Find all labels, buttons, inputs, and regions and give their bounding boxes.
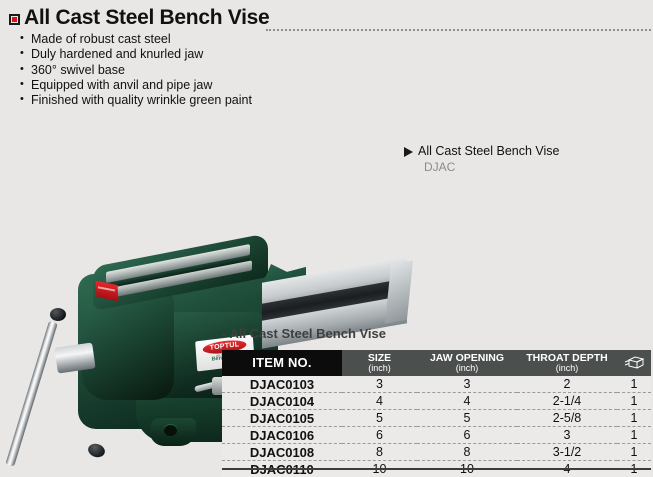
- table-row: DJAC01033321: [222, 376, 651, 393]
- cell-size: 5: [342, 410, 417, 427]
- column-header-throat-depth: THROAT DEPTH (inch): [517, 350, 617, 376]
- list-item: Finished with quality wrinkle green pain…: [20, 93, 350, 108]
- cell-throat-depth: 2-5/8: [517, 410, 617, 427]
- cell-item-no: DJAC0105: [222, 410, 342, 427]
- handle-collar: [54, 342, 95, 373]
- cell-jaw-opening: 8: [417, 444, 517, 461]
- cell-qty: 1: [617, 376, 651, 393]
- cell-size: 4: [342, 393, 417, 410]
- column-header-item-no: ITEM NO.: [222, 350, 342, 376]
- cell-qty: 1: [617, 427, 651, 444]
- table-heading: - All Cast Steel Bench Vise: [222, 326, 386, 341]
- cell-throat-depth: 2-1/4: [517, 393, 617, 410]
- handle-knob-bottom: [86, 442, 106, 459]
- cell-qty: 1: [617, 444, 651, 461]
- red-square-icon: [9, 14, 20, 25]
- specification-table: ITEM NO. SIZE (inch) JAW OPENING (inch) …: [222, 350, 651, 477]
- triangle-right-icon: [404, 147, 413, 157]
- table-row: DJAC0104442-1/41: [222, 393, 651, 410]
- table-row: DJAC0105552-5/81: [222, 410, 651, 427]
- vise-base-bolt-hole: [164, 425, 177, 436]
- cell-jaw-opening: 6: [417, 427, 517, 444]
- table-row: DJAC01066631: [222, 427, 651, 444]
- vise-handle-rod: [5, 321, 57, 467]
- bench-vise-photo: TOPTUL All Cast Steel Bench Vise: [18, 122, 408, 337]
- table-bottom-rule: [222, 468, 651, 470]
- cell-jaw-opening: 4: [417, 393, 517, 410]
- column-header-throat-depth-unit: (inch): [517, 364, 617, 374]
- cell-throat-depth: 3-1/2: [517, 444, 617, 461]
- cell-jaw-opening: 3: [417, 376, 517, 393]
- cell-item-no: DJAC0104: [222, 393, 342, 410]
- list-item: Equipped with anvil and pipe jaw: [20, 78, 350, 93]
- cell-qty: 1: [617, 410, 651, 427]
- cell-size: 3: [342, 376, 417, 393]
- list-item: Duly hardened and knurled jaw: [20, 47, 350, 62]
- column-header-size-unit: (inch): [342, 364, 417, 374]
- box-icon: [623, 355, 645, 371]
- cell-item-no: DJAC0103: [222, 376, 342, 393]
- cell-size: 6: [342, 427, 417, 444]
- table-header-row: ITEM NO. SIZE (inch) JAW OPENING (inch) …: [222, 350, 651, 376]
- caption-code: DJAC: [424, 160, 455, 174]
- cell-jaw-opening: 5: [417, 410, 517, 427]
- column-header-jaw-opening: JAW OPENING (inch): [417, 350, 517, 376]
- column-header-packing: [617, 350, 651, 376]
- cell-item-no: DJAC0106: [222, 427, 342, 444]
- handle-knob-top: [50, 308, 66, 321]
- cell-item-no: DJAC0108: [222, 444, 342, 461]
- list-item: 360° swivel base: [20, 63, 350, 78]
- cell-qty: 1: [617, 393, 651, 410]
- page-title: All Cast Steel Bench Vise: [24, 6, 269, 30]
- feature-list: Made of robust cast steel Duly hardened …: [20, 32, 350, 108]
- list-item: Made of robust cast steel: [20, 32, 350, 47]
- page-header: All Cast Steel Bench Vise: [0, 6, 653, 32]
- caption-title: All Cast Steel Bench Vise: [418, 144, 560, 158]
- cell-throat-depth: 3: [517, 427, 617, 444]
- column-header-jaw-opening-unit: (inch): [417, 364, 517, 374]
- column-header-size: SIZE (inch): [342, 350, 417, 376]
- title-dotted-rule: [266, 29, 651, 31]
- cell-size: 8: [342, 444, 417, 461]
- table-row: DJAC0108883-1/21: [222, 444, 651, 461]
- cell-throat-depth: 2: [517, 376, 617, 393]
